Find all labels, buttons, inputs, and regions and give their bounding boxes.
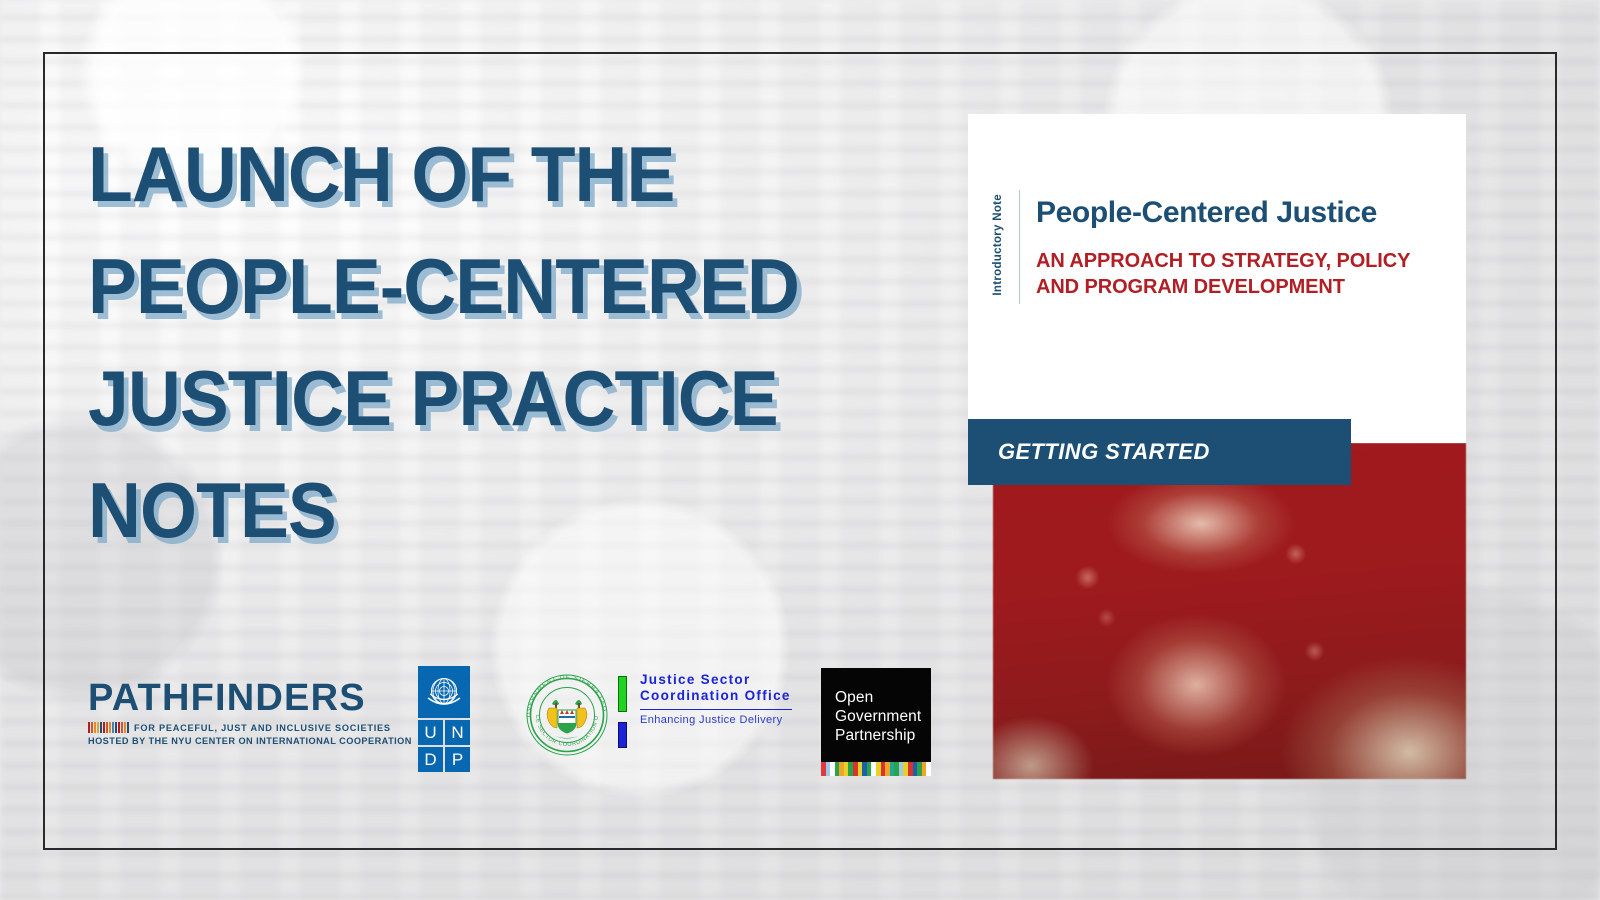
pathfinders-tagline-row: FOR PEACEFUL, JUST AND INCLUSIVE SOCIETI… [88,722,378,733]
pathfinders-wordmark: PATHFINDERS [88,678,378,718]
undp-letter-u: U [418,720,443,745]
ogp-line1: Open [835,688,931,707]
undp-letter-n: N [445,720,470,745]
jsco-name-line2: Coordination Office [640,688,793,704]
undp-letter-d: D [418,747,443,772]
jsco-green-bar [618,676,627,712]
pathfinders-tick-bars [88,722,129,733]
ogp-stripe-23 [926,762,931,776]
cover-photo-chess-pawns [993,443,1466,779]
jsco-name-line1: Justice Sector [640,672,793,688]
cover-side-label: Introductory Note [992,194,1004,296]
jsco-name: Justice Sector Coordination Office [640,672,793,704]
cover-title: People-Centered Justice [1036,196,1446,230]
logo-justice-sector-coordination-office: Justice Sector Coordination Office Enhan… [618,672,793,726]
logo-sierra-leone-seal: GOVERNMENT OF SIERRA LEONE JUSTICE SECTO… [522,670,612,760]
jsco-accent-bars [618,676,627,748]
jsco-tagline: Enhancing Justice Delivery [640,714,793,726]
cover-subtitle: AN APPROACH TO STRATEGY, POLICY AND PROG… [1036,248,1446,300]
cover-banner-label: GETTING STARTED [968,439,1210,465]
ogp-text: Open Government Partnership [835,688,931,745]
pathfinders-host-line: HOSTED BY THE NYU CENTER ON INTERNATIONA… [88,736,378,746]
un-globe-icon [418,666,470,718]
logo-pathfinders: PATHFINDERS FOR PEACEFUL, JUST AND INCLU… [88,678,378,746]
ogp-black-box: Open Government Partnership [821,668,931,762]
ogp-line3: Partnership [835,726,931,745]
undp-letter-p: P [445,747,470,772]
jsco-blue-bar [618,722,627,748]
jsco-text-block: Justice Sector Coordination Office Enhan… [640,672,793,726]
pathfinders-tagline: FOR PEACEFUL, JUST AND INCLUSIVE SOCIETI… [134,723,391,733]
undp-letter-grid: U N D P [418,720,470,772]
partner-logos-row: PATHFINDERS FOR PEACEFUL, JUST AND INCLU… [88,658,948,788]
logo-open-government-partnership: Open Government Partnership [821,668,931,776]
cover-getting-started-banner: GETTING STARTED [968,419,1351,485]
cover-vertical-rule [1019,190,1020,304]
jsco-divider [640,709,792,710]
page-title: LAUNCH OF THE PEOPLE-CENTERED JUSTICE PR… [88,118,878,566]
ogp-color-stripes [821,762,931,776]
logo-undp: U N D P [418,666,470,772]
document-cover-preview: Introductory Note People-Centered Justic… [968,114,1488,784]
ogp-line2: Government [835,707,931,726]
